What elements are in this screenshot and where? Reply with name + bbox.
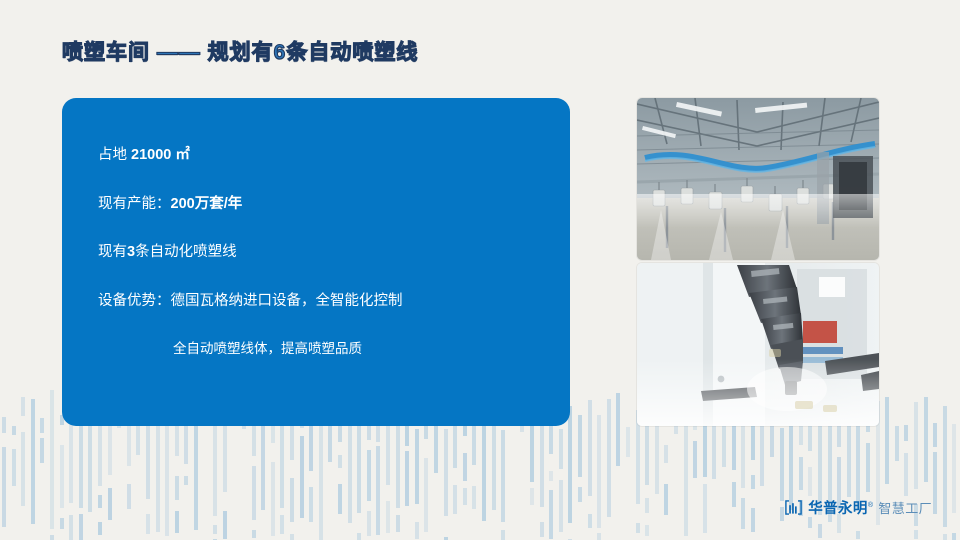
decorative-bar <box>559 429 563 469</box>
decorative-bar <box>501 430 505 522</box>
info-line-suffix: 条自动化喷塑线 <box>135 244 237 260</box>
decorative-bar <box>616 393 620 466</box>
decorative-bar <box>933 452 937 514</box>
decorative-bar <box>588 514 592 528</box>
decorative-bar <box>367 511 371 536</box>
decorative-bar <box>280 515 284 534</box>
decorative-bar <box>607 399 611 517</box>
decorative-bar <box>780 507 784 521</box>
decorative-bar <box>271 462 275 536</box>
decorative-bar <box>376 446 380 535</box>
decorative-bar <box>146 514 150 534</box>
decorative-bar <box>664 445 668 463</box>
decorative-bar <box>2 417 6 433</box>
decorative-bar <box>703 484 707 533</box>
decorative-bar <box>396 419 400 508</box>
decorative-bar <box>895 426 899 461</box>
info-line: 全自动喷塑线体，提高喷塑品质 <box>98 342 550 356</box>
decorative-bar <box>79 514 83 540</box>
decorative-bar <box>597 415 601 528</box>
decorative-bar <box>751 508 755 532</box>
decorative-bar <box>597 533 601 540</box>
decorative-bar <box>693 441 697 478</box>
brand-logo: 华普永明® 智慧工厂 <box>784 497 932 518</box>
decorative-bar <box>799 457 803 490</box>
decorative-bar <box>933 423 937 447</box>
decorative-bar <box>300 436 304 518</box>
info-line-value: 200万套/年 <box>171 196 243 212</box>
decorative-bar <box>40 438 44 463</box>
decorative-bar <box>549 471 553 481</box>
info-line-prefix: 全自动喷塑线体，提高喷塑品质 <box>173 341 362 356</box>
decorative-bar <box>98 495 102 508</box>
decorative-bar <box>184 476 188 485</box>
decorative-bar <box>492 419 496 510</box>
info-line: 设备优势：德国瓦格纳进口设备，全智能化控制 <box>98 294 550 309</box>
decorative-bar <box>463 488 467 505</box>
decorative-bar <box>40 418 44 433</box>
decorative-bar <box>50 390 54 529</box>
decorative-bar <box>837 425 841 447</box>
decorative-bar <box>636 523 640 533</box>
info-list: 占地 21000 ㎡现有产能：200万套/年现有3条自动化喷塑线设备优势：德国瓦… <box>98 148 550 356</box>
decorative-bar <box>664 484 668 515</box>
decorative-bar <box>885 397 889 484</box>
decorative-bar <box>88 423 92 512</box>
info-line-value: 3 <box>127 244 135 260</box>
decorative-bar <box>866 443 870 492</box>
decorative-bar <box>252 530 256 538</box>
info-panel: 占地 21000 ㎡现有产能：200万套/年现有3条自动化喷塑线设备优势：德国瓦… <box>62 98 570 426</box>
decorative-bar <box>2 447 6 527</box>
decorative-bar <box>780 428 784 501</box>
logo-name: 华普永明® <box>808 497 873 518</box>
decorative-bar <box>808 467 812 496</box>
decorative-bar <box>60 445 64 508</box>
decorative-bar <box>223 511 227 539</box>
decorative-bar <box>952 424 956 513</box>
photo-workshop-image <box>637 98 879 260</box>
decorative-bar <box>127 484 131 509</box>
decorative-bar <box>328 424 332 462</box>
decorative-bar <box>213 525 217 534</box>
decorative-bar <box>415 429 419 504</box>
decorative-bar <box>952 533 956 540</box>
decorative-bar <box>732 482 736 507</box>
info-line-prefix: 现有 <box>98 244 127 260</box>
decorative-bar <box>175 476 179 500</box>
decorative-bar <box>252 466 256 520</box>
decorative-bar <box>98 522 102 535</box>
decorative-bar <box>808 517 812 528</box>
decorative-bar <box>578 487 582 502</box>
decorative-bar <box>501 530 505 540</box>
decorative-bar <box>741 426 745 488</box>
decorative-bar <box>108 488 112 520</box>
decorative-bar <box>12 449 16 486</box>
info-line: 现有3条自动化喷塑线 <box>98 245 550 260</box>
decorative-bar <box>280 417 284 508</box>
decorative-bar <box>69 515 73 540</box>
decorative-bar <box>943 534 947 540</box>
decorative-bar <box>79 423 83 508</box>
decorative-bar <box>924 397 928 482</box>
decorative-bar <box>290 534 294 540</box>
decorative-bar <box>818 524 822 538</box>
logo-subtitle: 智慧工厂 <box>878 498 932 517</box>
decorative-bar <box>751 475 755 489</box>
decorative-bar <box>348 413 352 523</box>
page-title: 喷塑车间 —— 规划有6条自动喷塑线 <box>62 36 418 66</box>
info-line-prefix: 现有产能： <box>98 196 171 212</box>
decorative-bar <box>914 530 918 539</box>
decorative-bar <box>453 419 457 468</box>
decorative-bar <box>914 402 918 489</box>
info-line: 占地 21000 ㎡ <box>98 148 550 163</box>
decorative-bar <box>549 490 553 539</box>
logo-name-text: 华普永明 <box>808 501 868 517</box>
decorative-bar <box>357 425 361 513</box>
info-line-prefix: 设备优势：德国瓦格纳进口设备，全智能化控制 <box>98 293 403 309</box>
decorative-bar <box>12 426 16 435</box>
decorative-bar <box>453 485 457 514</box>
decorative-bar <box>175 424 179 456</box>
decorative-bar <box>655 420 659 494</box>
decorative-bar <box>319 425 323 540</box>
decorative-bar <box>415 522 419 539</box>
decorative-bar <box>559 480 563 532</box>
decorative-bar <box>856 531 860 539</box>
decorative-bar <box>568 406 572 523</box>
decorative-bar <box>645 525 649 536</box>
decorative-bar <box>386 425 390 485</box>
decorative-bar <box>338 455 342 468</box>
decorative-bar <box>463 453 467 481</box>
info-line: 现有产能：200万套/年 <box>98 197 550 212</box>
decorative-bar <box>626 427 630 457</box>
decorative-bar <box>338 484 342 514</box>
decorative-bar <box>444 429 448 516</box>
decorative-bar <box>376 426 380 442</box>
decorative-bar <box>732 425 736 470</box>
decorative-bar <box>741 498 745 529</box>
decorative-bar <box>21 397 25 416</box>
decorative-bar <box>309 487 313 522</box>
decorative-bar <box>396 515 400 532</box>
decorative-bar <box>588 400 592 496</box>
info-line-prefix: 占地 <box>98 147 131 163</box>
decorative-bar <box>386 501 390 533</box>
decorative-bar <box>194 421 198 530</box>
decorative-bar <box>904 425 908 441</box>
decorative-bar <box>808 426 812 451</box>
decorative-bar <box>530 488 534 505</box>
decorative-bar <box>943 406 947 527</box>
decorative-bar <box>357 533 361 540</box>
decorative-bar <box>472 486 476 509</box>
info-line-value: 21000 ㎡ <box>131 147 190 163</box>
decorative-bar <box>50 535 54 540</box>
logo-registered-mark: ® <box>868 502 874 509</box>
photo-workshop <box>637 98 879 260</box>
decorative-bar <box>31 399 35 524</box>
decorative-bar <box>21 432 25 506</box>
decorative-bar <box>60 518 64 529</box>
decorative-bar <box>712 420 716 479</box>
decorative-bar <box>290 478 294 522</box>
decorative-bar <box>578 415 582 477</box>
decorative-bar <box>540 522 544 537</box>
factory-bracket-icon <box>784 499 803 516</box>
decorative-bar <box>904 453 908 496</box>
photo-robot-image <box>637 263 879 426</box>
decorative-bar <box>424 458 428 532</box>
decorative-bar <box>367 450 371 501</box>
decorative-bar <box>405 451 409 506</box>
decorative-bar <box>213 422 217 516</box>
decorative-bar <box>175 511 179 533</box>
photo-robot <box>637 263 879 426</box>
decorative-bar <box>645 498 649 513</box>
